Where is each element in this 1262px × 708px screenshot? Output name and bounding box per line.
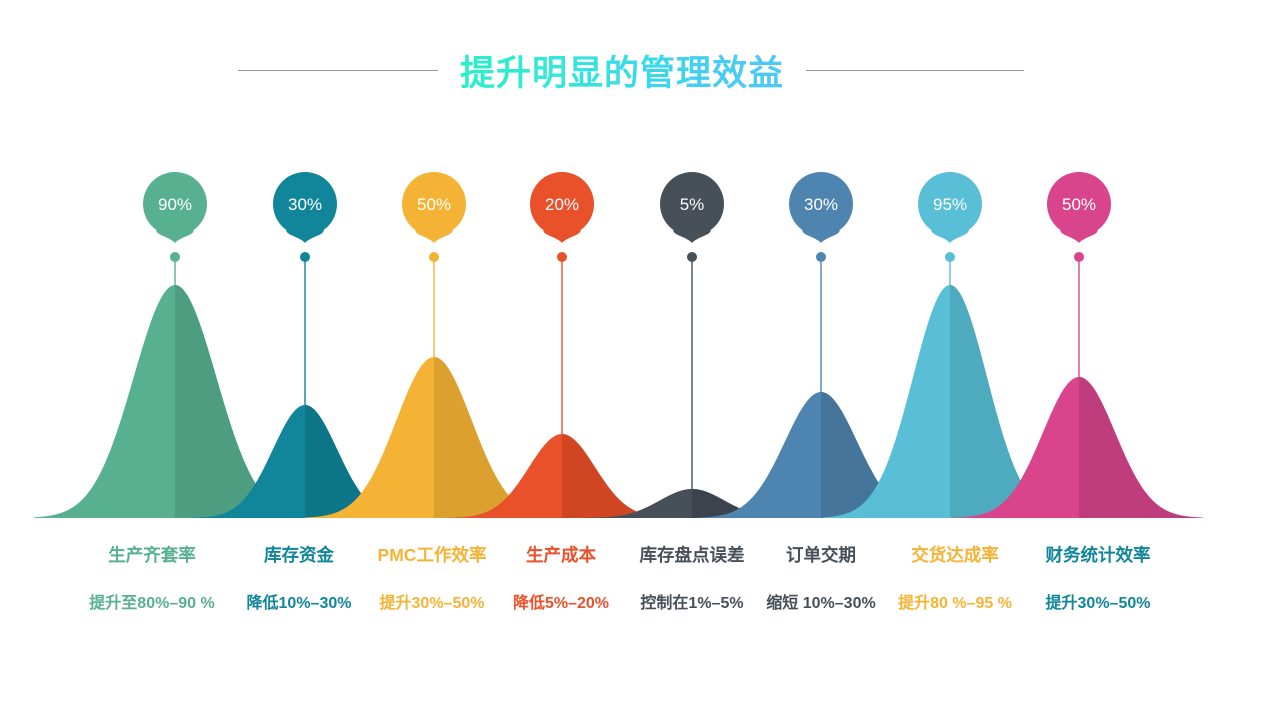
category-name: 库存盘点误差 [640, 544, 745, 566]
infographic-canvas: 提升明显的管理效益 90%30%50%20%5%30%95%50% 生产齐套率提… [0, 0, 1262, 708]
pin-value-label: 30% [804, 195, 838, 214]
value-pin-7[interactable]: 95% [918, 172, 982, 285]
label-column-7: 交货达成率提升80 %–95 % [898, 544, 1012, 615]
label-column-8: 财务统计效率提升30%–50% [1046, 544, 1151, 615]
curve-layer [33, 285, 1203, 518]
label-column-5: 库存盘点误差控制在1%–5% [640, 544, 745, 615]
value-pin-8[interactable]: 50% [1047, 172, 1111, 377]
label-column-2: 库存资金降低10%–30% [247, 544, 352, 615]
value-pin-4[interactable]: 20% [530, 172, 594, 434]
pin-dot [300, 252, 310, 262]
category-name: 交货达成率 [898, 544, 1012, 566]
value-pin-3[interactable]: 50% [402, 172, 466, 357]
pin-dot [557, 252, 567, 262]
pin-dot [945, 252, 955, 262]
pin-value-label: 20% [545, 195, 579, 214]
value-pin-1[interactable]: 90% [143, 172, 207, 285]
value-pin-2[interactable]: 30% [273, 172, 337, 405]
pin-dot [1074, 252, 1084, 262]
category-name: 生产成本 [513, 544, 609, 566]
pin-value-label: 50% [417, 195, 451, 214]
pin-dot [170, 252, 180, 262]
pin-value-label: 5% [680, 195, 705, 214]
pin-dot [429, 252, 439, 262]
label-column-4: 生产成本降低5%–20% [513, 544, 609, 615]
pin-value-label: 30% [288, 195, 322, 214]
category-name: PMC工作效率 [378, 544, 487, 566]
value-pin-6[interactable]: 30% [789, 172, 853, 392]
category-detail: 提升30%–50% [1046, 593, 1151, 615]
category-name: 财务统计效率 [1046, 544, 1151, 566]
label-column-1: 生产齐套率提升至80%–90 % [89, 544, 214, 615]
category-detail: 提升80 %–95 % [898, 593, 1012, 615]
category-detail: 缩短 10%–30% [766, 593, 875, 615]
pin-dot [687, 252, 697, 262]
pin-dot [816, 252, 826, 262]
pin-value-label: 95% [933, 195, 967, 214]
pin-value-label: 50% [1062, 195, 1096, 214]
category-detail: 控制在1%–5% [640, 593, 745, 615]
value-pin-5[interactable]: 5% [660, 172, 724, 489]
label-column-6: 订单交期缩短 10%–30% [766, 544, 875, 615]
category-detail: 降低5%–20% [513, 593, 609, 615]
category-name: 生产齐套率 [89, 544, 214, 566]
label-column-3: PMC工作效率提升30%–50% [378, 544, 487, 615]
category-name: 订单交期 [766, 544, 875, 566]
category-labels: 生产齐套率提升至80%–90 %库存资金降低10%–30%PMC工作效率提升30… [0, 544, 1262, 644]
category-detail: 提升30%–50% [378, 593, 487, 615]
pin-value-label: 90% [158, 195, 192, 214]
category-name: 库存资金 [247, 544, 352, 566]
category-detail: 提升至80%–90 % [89, 593, 214, 615]
category-detail: 降低10%–30% [247, 593, 352, 615]
